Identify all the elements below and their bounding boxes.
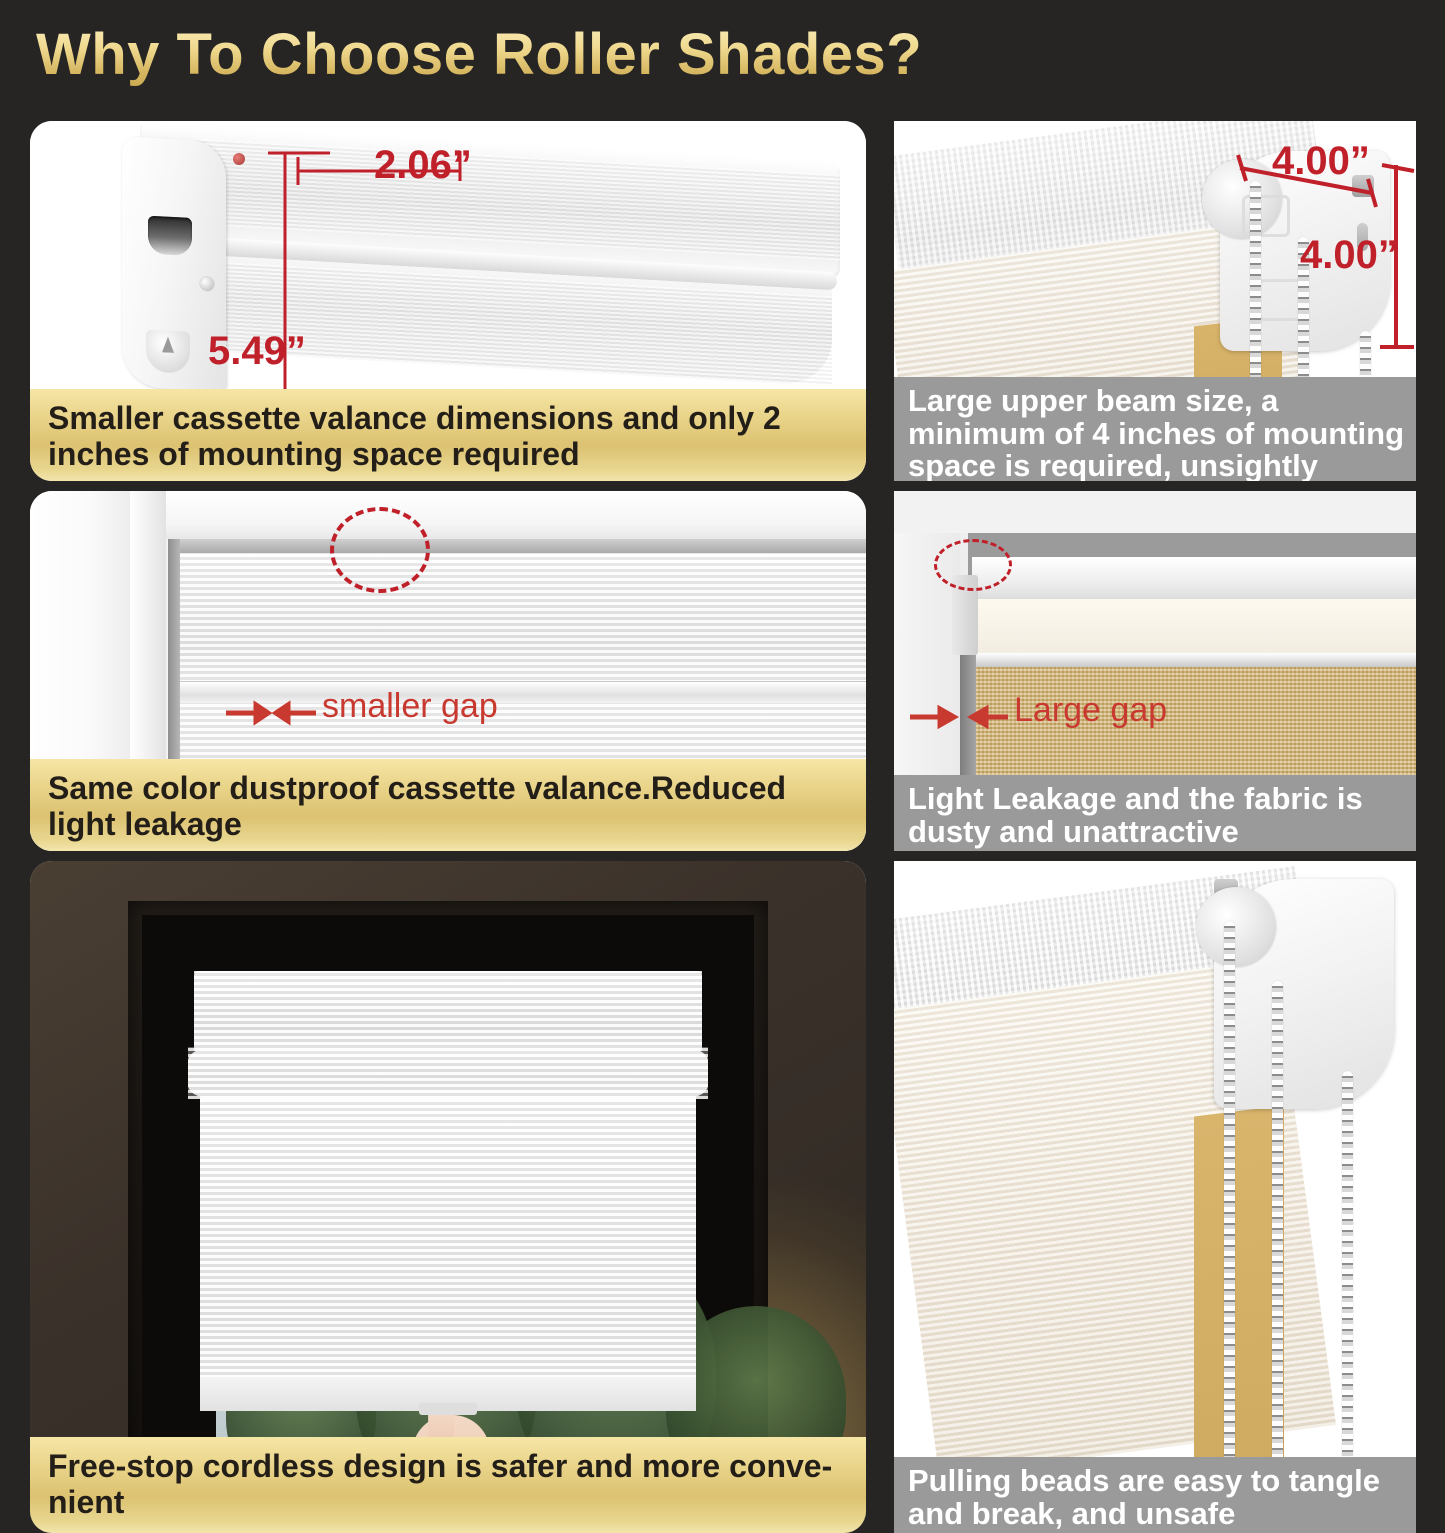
mounting-bracket	[1214, 879, 1394, 1109]
gap-label: smaller gap	[322, 687, 498, 726]
panel-4-caption: Light Leakage and the fabric is dusty an…	[894, 775, 1416, 851]
highlight-circle	[330, 507, 430, 593]
panel-1-smaller-cassette: 5.49” 2.06” Smaller cassette valance dim…	[30, 121, 866, 481]
dimension-label-height: 5.49”	[208, 329, 306, 374]
top-screw	[233, 153, 245, 165]
panel-5-caption: Free-stop cordless design is safer and m…	[30, 1437, 866, 1533]
roller-shade-fabric	[200, 1097, 696, 1402]
panel-3-caption: Same color dustproof cassette valance.Re…	[30, 759, 866, 851]
panel-5-image	[30, 861, 866, 1533]
panel-3-smaller-gap: smaller gap Same color dustproof cassett…	[30, 491, 866, 851]
gap-label: Large gap	[1014, 691, 1167, 730]
panel-2-caption: Large upper beam size, a minimum of 4 in…	[894, 377, 1416, 481]
dimension-label-height: 4.00”	[1300, 233, 1398, 278]
panel-6-caption: Pulling beads are easy to tangle and bre…	[894, 1457, 1416, 1533]
panel-1-caption: Smaller cassette valance dimensions and …	[30, 389, 866, 481]
panel-4-large-gap: Large gap Light Leakage and the fabric i…	[894, 491, 1416, 851]
panel-6-pull-beads: Pulling beads are easy to tangle and bre…	[894, 861, 1416, 1533]
cassette-valance	[194, 971, 702, 1051]
highlight-circle	[934, 539, 1012, 591]
panel-6-image	[894, 861, 1416, 1533]
dimension-label-width: 4.00”	[1272, 139, 1370, 184]
panel-5-cordless-design: Free-stop cordless design is safer and m…	[30, 861, 866, 1533]
comparison-grid: 5.49” 2.06” Smaller cassette valance dim…	[0, 108, 1445, 1445]
page-title: Why To Choose Roller Shades?	[36, 21, 922, 88]
window-frame	[128, 901, 768, 1491]
bead-chain	[1342, 1071, 1353, 1501]
dimension-label-width: 2.06”	[374, 143, 472, 188]
pull-tab	[419, 1403, 477, 1415]
page-header: Why To Choose Roller Shades?	[0, 0, 1445, 108]
panel-2-large-beam: 4.00” 4.00” Large upper beam size, a min…	[894, 121, 1416, 481]
bead-chain	[1272, 981, 1283, 1501]
bead-chain	[1224, 921, 1235, 1501]
